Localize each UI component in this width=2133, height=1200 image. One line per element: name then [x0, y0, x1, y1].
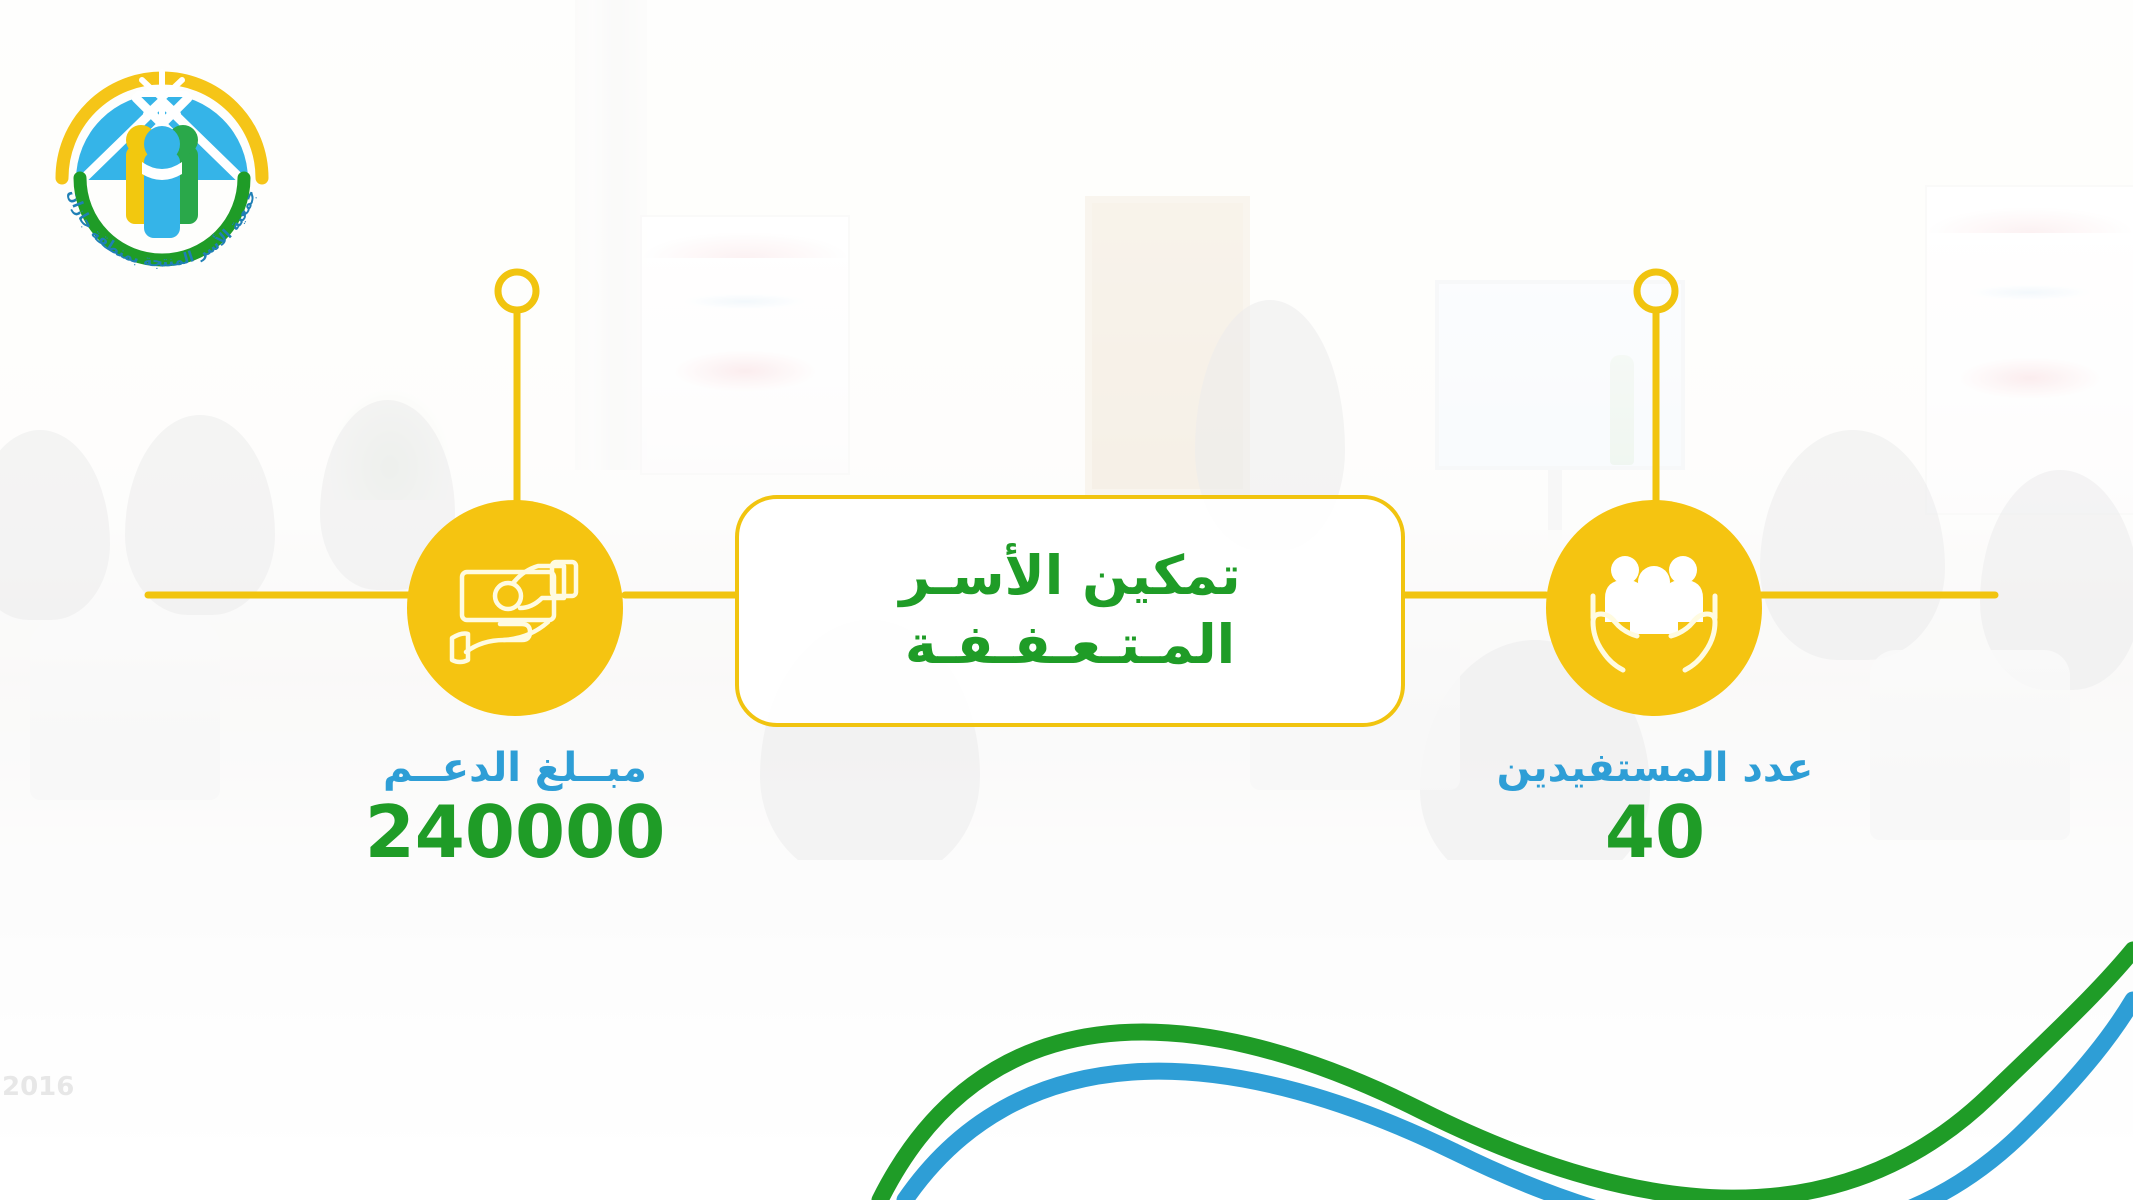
title-line-2: المـتـعـفـفـة: [905, 613, 1235, 678]
infographic-stage: 2016: [0, 0, 2133, 1200]
metric-label-beneficiaries: عدد المستفيدين: [1425, 745, 1885, 791]
metric-text-beneficiaries: عدد المستفيدين 40: [1425, 745, 1885, 872]
people-in-hands-icon: [1579, 540, 1729, 676]
metric-text-support-amount: مبــلغ الدعــم 240000: [285, 745, 745, 872]
metric-circle-support-amount[interactable]: [407, 500, 623, 716]
background-year-watermark: 2016: [2, 1072, 74, 1102]
metric-value-support-amount: 240000: [285, 793, 745, 872]
title-line-1: تمكين الأسـر: [899, 544, 1240, 609]
background-rollup-banner-right: [1925, 185, 2133, 515]
background-column: [575, 0, 647, 470]
association-logo: جمعية الأسر المنتجة بمنطقة جازان: [38, 28, 286, 276]
background-chair: [30, 620, 220, 800]
background-bottle: [1610, 355, 1634, 465]
metric-circle-beneficiaries[interactable]: [1546, 500, 1762, 716]
metric-value-beneficiaries: 40: [1425, 793, 1885, 872]
metric-label-support-amount: مبــلغ الدعــم: [285, 745, 745, 791]
background-floor: [0, 860, 2133, 1200]
money-in-hand-icon: [440, 542, 590, 674]
background-tv-screen: [1435, 280, 1685, 470]
background-rollup-banner-left: [640, 215, 850, 475]
background-chair: [1870, 650, 2070, 840]
main-title-card: تمكين الأسـر المـتـعـفـفـة: [735, 495, 1405, 727]
